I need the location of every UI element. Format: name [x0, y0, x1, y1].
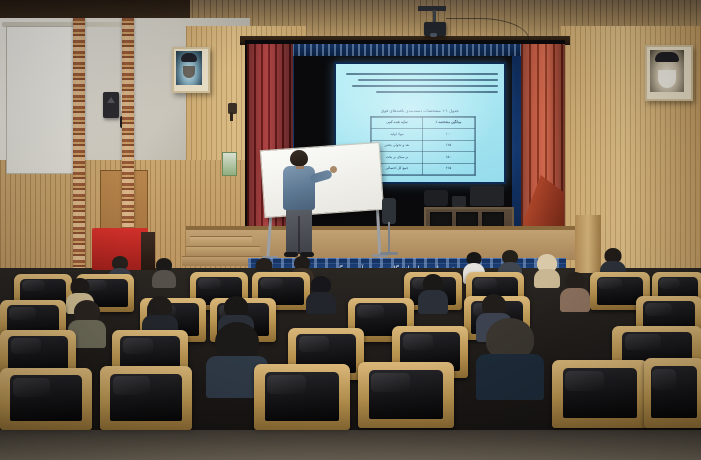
seat[interactable]: [358, 362, 454, 428]
wood-pillar-right: [575, 215, 601, 273]
seat[interactable]: [552, 360, 648, 428]
beard-shape: [183, 66, 195, 78]
seat[interactable]: [644, 358, 701, 428]
pilaster-left-pattern: [73, 18, 85, 268]
seat[interactable]: [100, 366, 192, 430]
presenter-leg-split: [298, 216, 300, 254]
dispenser-glyph-icon: [107, 97, 115, 103]
presenter-head: [290, 150, 308, 166]
green-poster: [222, 152, 237, 176]
stage-equipment-c: [452, 196, 466, 207]
audience-person: [152, 258, 176, 288]
stage-chair-leg: [388, 222, 390, 254]
projector-lens-icon: [430, 33, 437, 37]
audience-person: [306, 276, 336, 314]
wall-dispenser-unit: [103, 92, 119, 118]
stage-chair-foot: [380, 252, 398, 255]
audience-person: [476, 318, 544, 400]
stage-equipment-b: [470, 186, 504, 206]
turban-icon: [181, 53, 197, 62]
turban-icon: [655, 52, 679, 62]
back-whiteboard: [6, 26, 74, 174]
presenter-hand: [330, 166, 337, 173]
audience-person-headscarf: [534, 254, 560, 288]
audience-person: [418, 274, 448, 314]
stage-floor-edge: [186, 226, 576, 230]
projector-mount-plate: [418, 6, 446, 11]
stage-chair: [382, 198, 396, 224]
stage-equipment-a: [424, 190, 448, 206]
audience-person: [560, 272, 590, 312]
floor-highlight: [0, 430, 701, 460]
seat[interactable]: [0, 368, 92, 430]
beard-shape: [658, 70, 676, 88]
auditorium-photo: جدول ۱-۱ مشخصات دسته‌بندی یافته‌های فوق …: [0, 0, 701, 460]
seat[interactable]: [254, 364, 350, 430]
wall-fixture-arm: [230, 112, 233, 121]
presenter-torso: [283, 166, 315, 210]
